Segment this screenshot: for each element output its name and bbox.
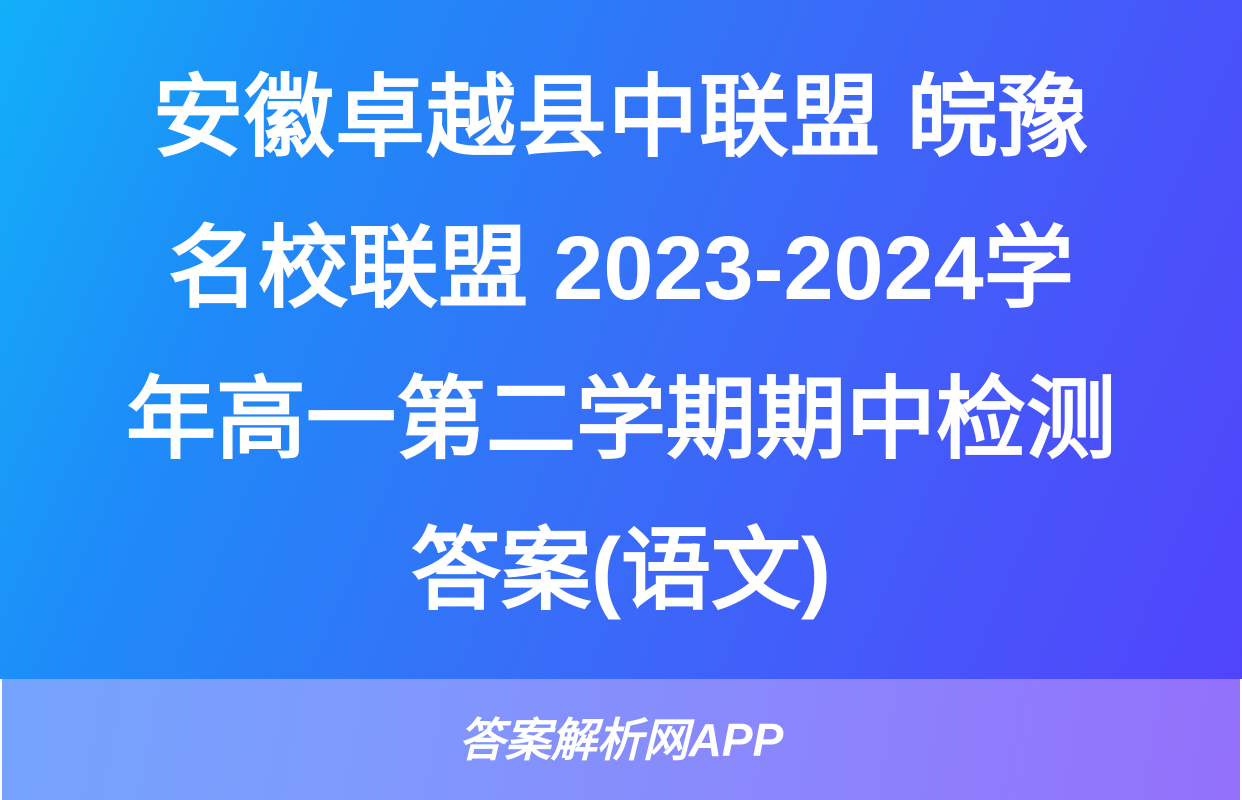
title-line-1: 安徽卓越县中联盟 皖豫	[153, 43, 1089, 194]
title-line-4: 答案(语文)	[411, 496, 831, 647]
poster-title-block: 安徽卓越县中联盟 皖豫 名校联盟 2023-2024学 年高一第二学期期中检测 …	[0, 0, 1242, 679]
app-promo-banner-inner: 答案解析网APP	[2, 679, 1240, 800]
title-line-2: 名校联盟 2023-2024学	[168, 194, 1073, 345]
title-line-3: 年高一第二学期期中检测	[126, 345, 1116, 496]
poster-canvas: 安徽卓越县中联盟 皖豫 名校联盟 2023-2024学 年高一第二学期期中检测 …	[0, 0, 1242, 800]
app-promo-label: 答案解析网APP	[459, 717, 784, 763]
app-promo-banner[interactable]: 答案解析网APP	[2, 679, 1240, 800]
